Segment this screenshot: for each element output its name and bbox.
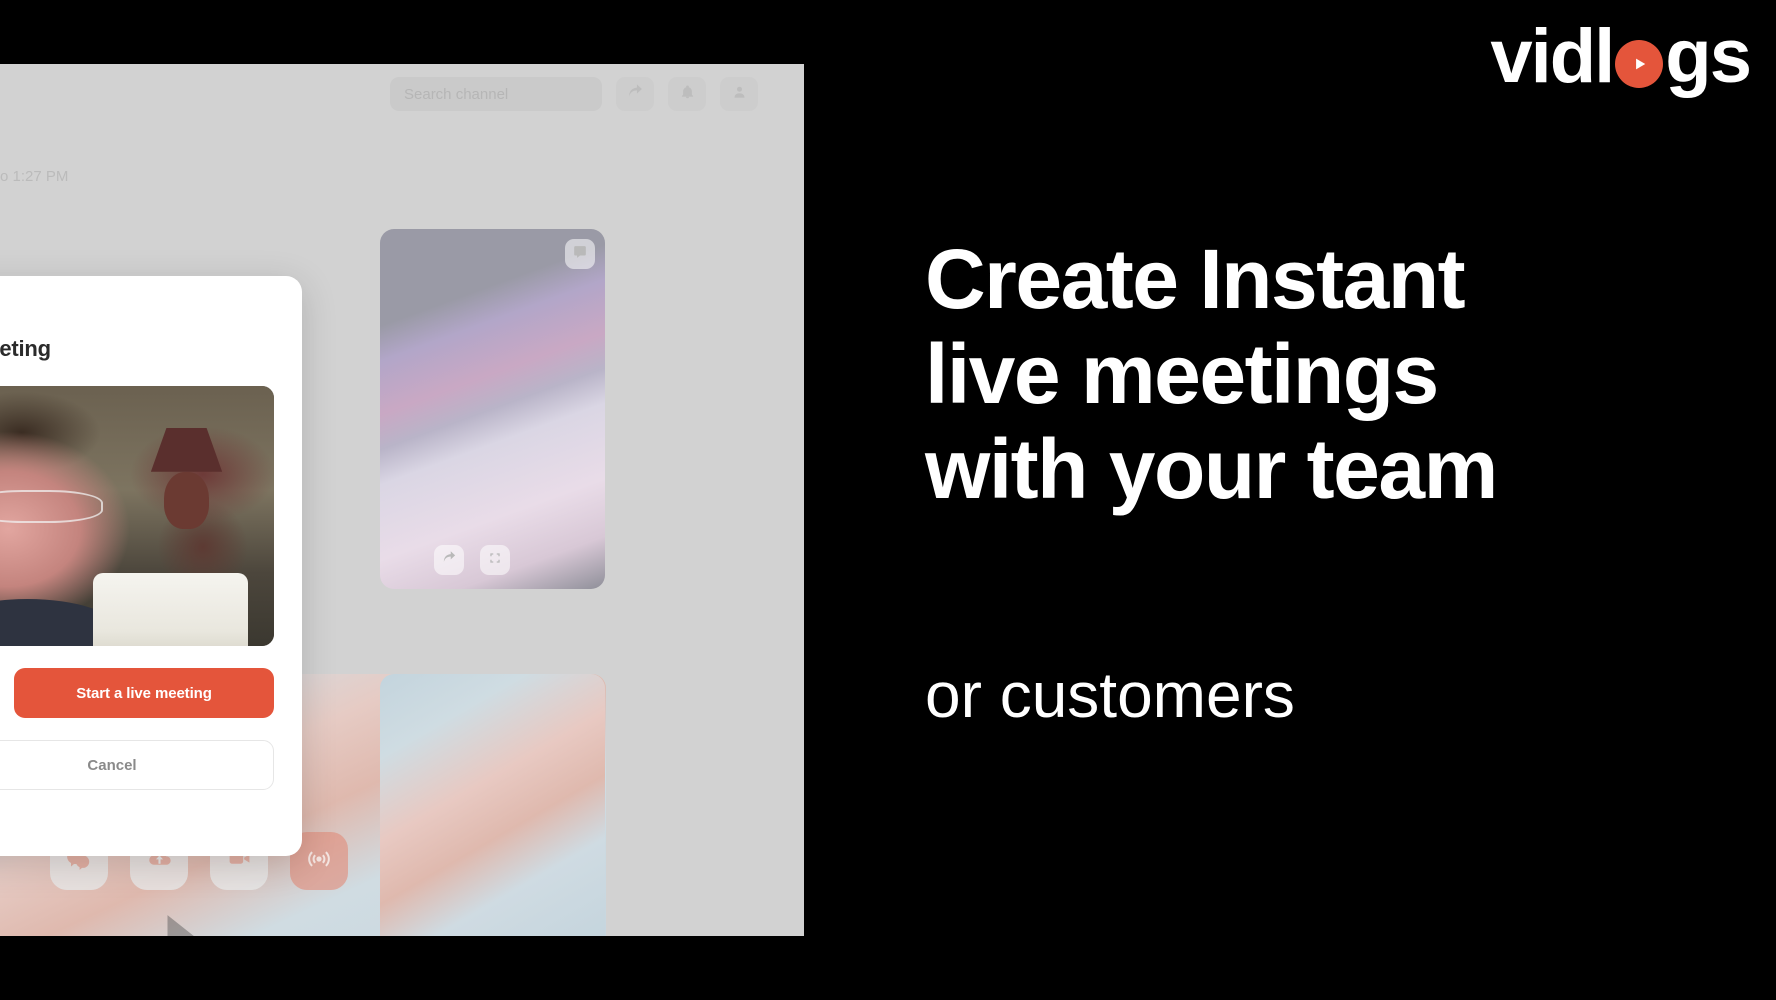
page-headline: Create Instant live meetings with your t… xyxy=(925,232,1725,517)
glasses-decor xyxy=(0,490,103,523)
search-placeholder-text: Search channel xyxy=(404,86,508,103)
logo-text-suffix: gs xyxy=(1665,19,1750,95)
cancel-button[interactable]: Cancel xyxy=(0,740,274,790)
modal-title: e meeting xyxy=(0,336,274,362)
video-meta-timestamp: d video 1:27 PM xyxy=(0,168,68,185)
mug-decor xyxy=(93,573,249,646)
share-icon xyxy=(627,83,644,105)
card-share-button[interactable] xyxy=(434,545,464,575)
share-button[interactable] xyxy=(616,77,654,111)
modal-actions-row: Start a live meeting xyxy=(0,668,274,718)
app-screenshot-panel: Search channel d video 1:27 PM xyxy=(0,64,804,936)
share-icon xyxy=(442,550,457,570)
logo-play-icon xyxy=(1615,40,1663,88)
video-card-kitchen[interactable] xyxy=(380,229,605,589)
start-live-meeting-button[interactable]: Start a live meeting xyxy=(14,668,274,718)
webcam-preview xyxy=(0,386,274,646)
start-live-meeting-modal: e meeting Start a live meeting C xyxy=(0,276,302,856)
lamp-base-decor xyxy=(164,472,209,529)
card-fullscreen-button[interactable] xyxy=(480,545,510,575)
logo-text-prefix: vidl xyxy=(1490,19,1613,95)
app-topbar: Search channel xyxy=(0,64,804,124)
page-subheadline: or customers xyxy=(925,660,1295,730)
account-button[interactable] xyxy=(720,77,758,111)
fullscreen-icon xyxy=(488,551,502,570)
person-icon xyxy=(732,84,747,105)
bell-icon xyxy=(680,84,695,105)
broadcast-live-icon xyxy=(306,846,332,877)
search-input[interactable]: Search channel xyxy=(390,77,602,111)
vidlogs-logo[interactable]: vidl gs xyxy=(1490,18,1750,96)
chat-icon xyxy=(573,245,587,264)
video-card-abstract[interactable] xyxy=(380,674,605,936)
notifications-button[interactable] xyxy=(668,77,706,111)
card-chat-button[interactable] xyxy=(565,239,595,269)
